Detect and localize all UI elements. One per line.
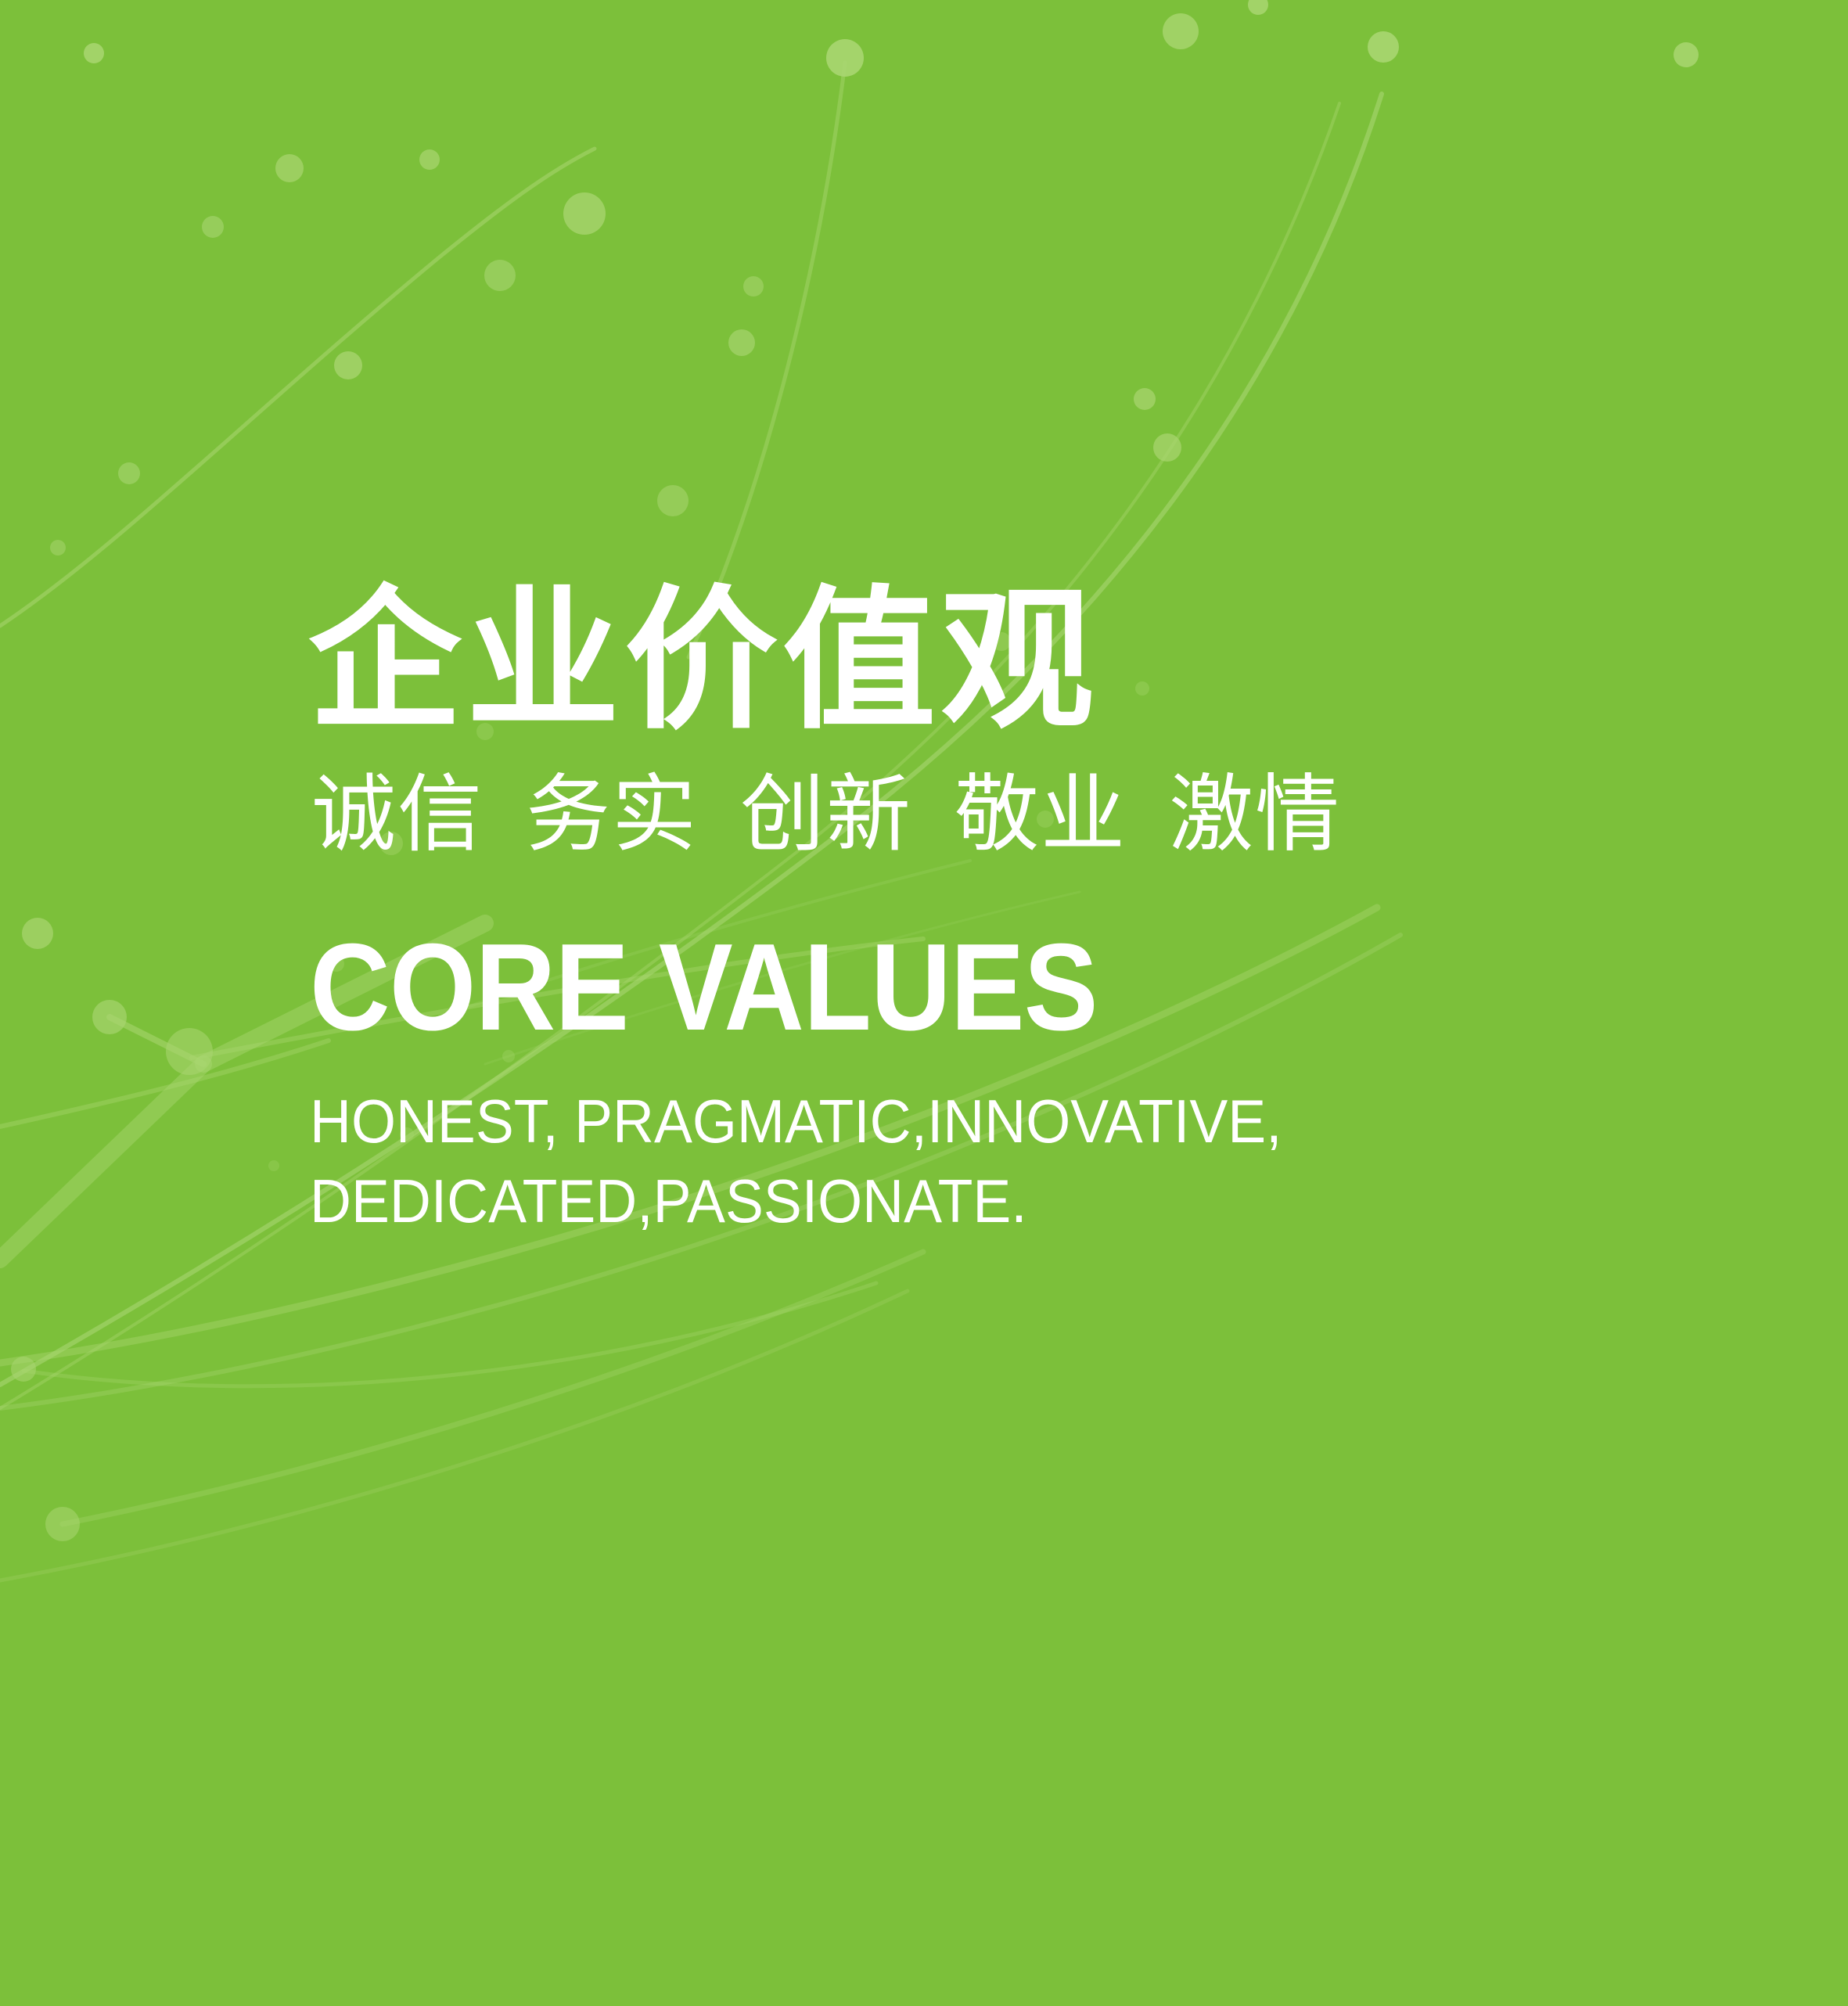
page-title-chinese: 企业价值观: [308, 579, 1685, 745]
core-values-list-chinese: 诚信务实创新敬业激情: [311, 765, 1685, 865]
content-block: 企业价值观 诚信务实创新敬业激情 CORE VALUES HONEST, PRA…: [308, 579, 1685, 1241]
core-values-list-english: HONEST, PRAGMATIC,INNOVATIVE, DEDICATED,…: [310, 1082, 1603, 1241]
english-values-line-1: HONEST, PRAGMATIC,INNOVATIVE,: [310, 1082, 1603, 1161]
core-values-poster: 企业价值观 诚信务实创新敬业激情 CORE VALUES HONEST, PRA…: [0, 0, 1848, 2006]
value-item-dedication: 敬业: [955, 766, 1127, 864]
value-item-innovation: 创新: [740, 766, 912, 864]
english-values-line-2: DEDICATED,PASSIONATE.: [310, 1162, 1603, 1241]
value-item-pragmatism: 务实: [526, 766, 698, 864]
value-item-integrity: 诚信: [311, 766, 484, 864]
page-title-english: CORE VALUES: [310, 926, 1548, 1049]
value-item-passion: 激情: [1169, 766, 1341, 864]
